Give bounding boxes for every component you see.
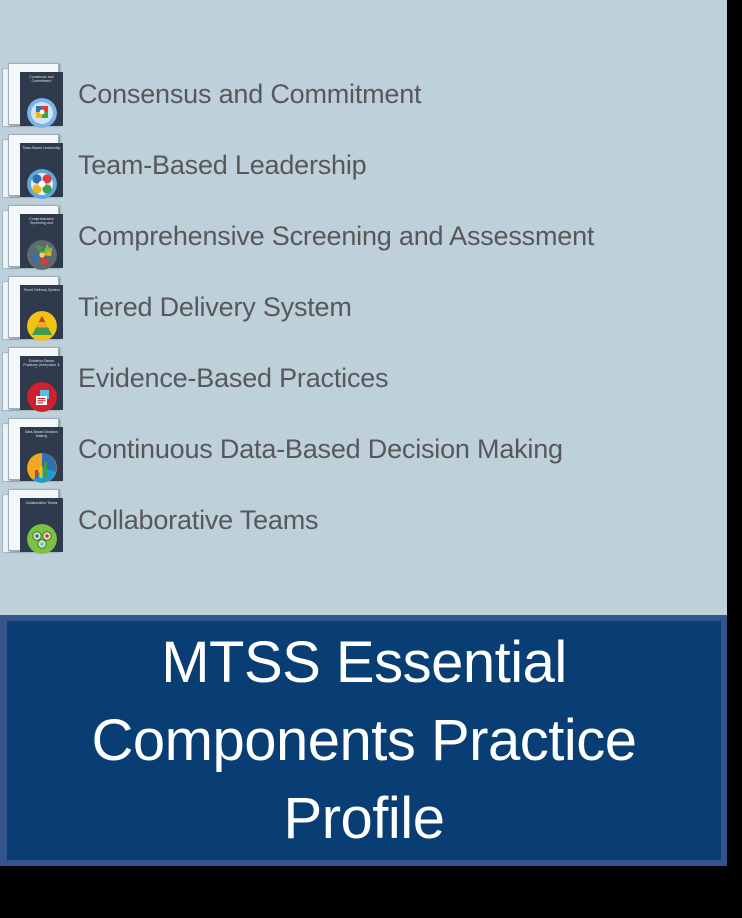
thumbnail-cover-title: Team-Based Leadership bbox=[20, 146, 63, 150]
pinwheel-multicolor-logo-icon bbox=[27, 240, 57, 270]
list-item-label: Collaborative Teams bbox=[62, 505, 318, 535]
thumbnail-front-page: Consensus and Commitment bbox=[8, 63, 59, 125]
essential-components-list: Consensus and Commitment bbox=[0, 58, 727, 555]
title-banner: MTSS Essential Components Practice Profi… bbox=[0, 615, 727, 866]
continuous-data-based-decision-making-thumbnail-icon[interactable]: Data-Based Decision Making bbox=[0, 413, 62, 484]
tiered-delivery-system-thumbnail-icon[interactable]: Tiered Delivery System bbox=[0, 271, 62, 342]
list-item-label: Team-Based Leadership bbox=[62, 150, 366, 180]
thumbnail-cover-title: Tiered Delivery System bbox=[20, 288, 63, 292]
thumbnail-cover-title: Evidence-Based Practices (Instruction & … bbox=[20, 359, 63, 368]
slide-canvas: Consensus and Commitment bbox=[0, 0, 742, 918]
evidence-based-practices-thumbnail-icon[interactable]: Evidence-Based Practices (Instruction & … bbox=[0, 342, 62, 413]
list-item-label: Consensus and Commitment bbox=[62, 79, 421, 109]
thumbnail-front-page: Comprehensive Screening and Assessment bbox=[8, 205, 59, 267]
thumbnail-cover: Tiered Delivery System bbox=[20, 285, 63, 339]
list-item[interactable]: Collaborative Teams bbox=[0, 484, 727, 555]
list-item[interactable]: Data-Based Decision Making bbox=[0, 413, 727, 484]
consensus-and-commitment-thumbnail-icon[interactable]: Consensus and Commitment bbox=[0, 58, 62, 129]
thumbnail-front-page: Evidence-Based Practices (Instruction & … bbox=[8, 347, 59, 409]
team-circle-logo-icon bbox=[27, 169, 57, 199]
page-title: MTSS Essential Components Practice Profi… bbox=[36, 624, 693, 858]
essential-components-panel: Consensus and Commitment bbox=[0, 0, 727, 615]
thumbnail-cover: Consensus and Commitment bbox=[20, 72, 63, 126]
team-based-leadership-thumbnail-icon[interactable]: Team-Based Leadership bbox=[0, 129, 62, 200]
list-item[interactable]: Evidence-Based Practices (Instruction & … bbox=[0, 342, 727, 413]
list-item[interactable]: Tiered Delivery System bbox=[0, 271, 727, 342]
comprehensive-screening-and-assessment-thumbnail-icon[interactable]: Comprehensive Screening and Assessment bbox=[0, 200, 62, 271]
red-book-logo-icon bbox=[27, 382, 57, 412]
data-chart-logo-icon bbox=[27, 453, 57, 483]
thumbnail-cover: Data-Based Decision Making bbox=[20, 427, 63, 481]
thumbnail-front-page: Data-Based Decision Making bbox=[8, 418, 59, 480]
list-item-label: Evidence-Based Practices bbox=[62, 363, 388, 393]
thumbnail-front-page: Team-Based Leadership bbox=[8, 134, 59, 196]
thumbnail-cover-title: Comprehensive Screening and Assessment bbox=[20, 217, 63, 226]
list-item[interactable]: Team-Based Leadership bbox=[0, 129, 727, 200]
list-item-label: Continuous Data-Based Decision Making bbox=[62, 434, 563, 464]
thumbnail-cover: Evidence-Based Practices (Instruction & … bbox=[20, 356, 63, 410]
green-team-gears-logo-icon bbox=[27, 524, 57, 554]
list-item-label: Tiered Delivery System bbox=[62, 292, 352, 322]
thumbnail-cover: Collaborative Teams bbox=[20, 498, 63, 552]
list-item[interactable]: Consensus and Commitment bbox=[0, 58, 727, 129]
list-item[interactable]: Comprehensive Screening and Assessment bbox=[0, 200, 727, 271]
thumbnail-cover-title: Data-Based Decision Making bbox=[20, 430, 63, 438]
collaborative-teams-thumbnail-icon[interactable]: Collaborative Teams bbox=[0, 484, 62, 555]
thumbnail-cover: Team-Based Leadership bbox=[20, 143, 63, 197]
thumbnail-cover: Comprehensive Screening and Assessment bbox=[20, 214, 63, 268]
thumbnail-front-page: Tiered Delivery System bbox=[8, 276, 59, 338]
thumbnail-cover-title: Collaborative Teams bbox=[20, 501, 63, 505]
pinwheel-blue-logo-icon bbox=[27, 98, 57, 128]
thumbnail-cover-title: Consensus and Commitment bbox=[20, 75, 63, 83]
thumbnail-front-page: Collaborative Teams bbox=[8, 489, 59, 551]
tiered-pyramid-logo-icon bbox=[27, 311, 57, 341]
list-item-label: Comprehensive Screening and Assessment bbox=[62, 221, 594, 251]
